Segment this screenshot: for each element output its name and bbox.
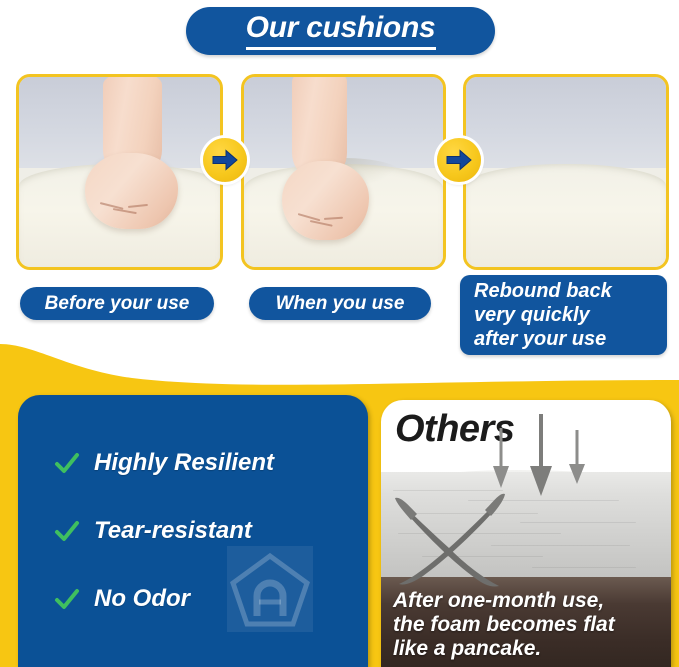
others-caption-line-3: like a pancake. xyxy=(393,637,615,661)
check-icon xyxy=(54,518,80,544)
step-label-during: When you use xyxy=(249,287,431,320)
others-comparison-card: Others After one-month use, xyxy=(381,400,671,667)
feature-label: No Odor xyxy=(94,585,190,613)
features-card: Highly Resilient Tear-resistant No Odor xyxy=(18,395,368,667)
step-photo-after xyxy=(463,74,669,270)
others-caption: After one-month use, the foam becomes fl… xyxy=(393,589,615,661)
step-label-after-line-2: very quickly xyxy=(474,303,667,327)
x-cross-brush-icon xyxy=(387,486,517,596)
page-title: Our cushions xyxy=(246,13,436,43)
step-photo-before xyxy=(16,74,223,270)
step-label-after: Rebound back very quickly after your use xyxy=(460,275,667,355)
step-label-before: Before your use xyxy=(20,287,214,320)
check-icon xyxy=(54,450,80,476)
feature-item-highly-resilient: Highly Resilient xyxy=(54,439,274,487)
photo-foam-cushion xyxy=(466,164,666,267)
check-icon xyxy=(54,586,80,612)
page-title-banner: Our cushions xyxy=(186,7,495,55)
feature-label: Highly Resilient xyxy=(94,449,274,477)
photo-fist xyxy=(282,161,370,241)
feature-label: Tear-resistant xyxy=(94,517,252,545)
title-underline xyxy=(246,47,436,50)
step-photo-during xyxy=(241,74,446,270)
photo-fist xyxy=(85,153,177,229)
pentagon-house-logo-icon xyxy=(227,546,313,632)
step-label-after-line-1: Rebound back xyxy=(474,279,667,303)
arrow-right-icon xyxy=(203,138,247,182)
photo-wall-background xyxy=(466,77,666,168)
arrow-right-icon xyxy=(437,138,481,182)
others-caption-line-2: the foam becomes flat xyxy=(393,613,615,637)
step-label-after-line-3: after your use xyxy=(474,327,667,351)
others-caption-line-1: After one-month use, xyxy=(393,589,615,613)
